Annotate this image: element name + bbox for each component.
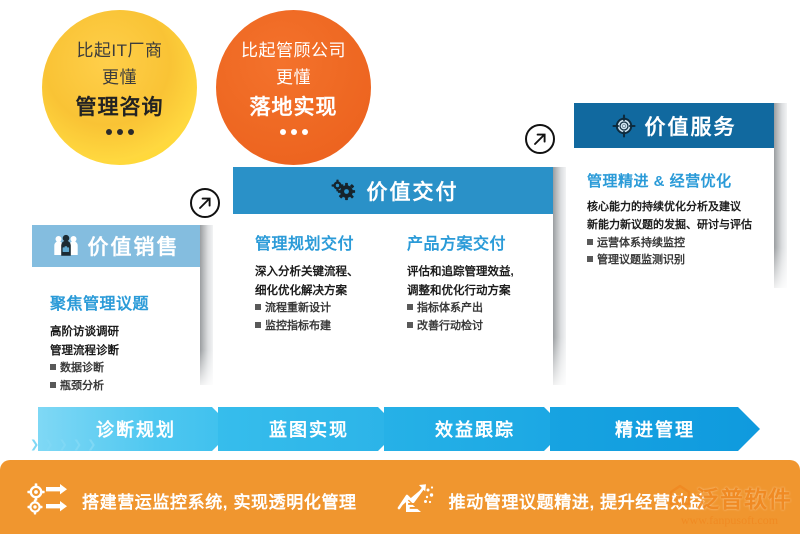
gear-icon	[328, 178, 358, 204]
panel-bullet-label: 流程重新设计	[265, 300, 331, 318]
watermark-logo-icon	[667, 484, 693, 510]
panel-bullet-label: 管理议题监测识别	[597, 252, 685, 270]
panel-bullet-label: 瓶颈分析	[60, 378, 104, 396]
panel-column: 产品方案交付 评估和追踪管理效益, 调整和优化行动方案 指标体系产出 改善行动检…	[407, 230, 537, 336]
panel-bullet-label: 监控指标布建	[265, 318, 331, 336]
panel-line: 深入分析关键流程、	[255, 263, 385, 282]
bullet-square-icon	[407, 322, 413, 328]
panel-header: 价值服务	[574, 103, 774, 148]
panel-bullet: 监控指标布建	[255, 318, 385, 336]
watermark-brand-row: 泛普软件	[667, 480, 792, 514]
panel-body: 管理精进 & 经营优化 核心能力的持续优化分析及建议 新能力新议题的发掘、研讨与…	[574, 148, 774, 270]
circle-line-2: 更懂	[276, 67, 311, 88]
panel-3d-edge	[200, 225, 213, 385]
panel-subtitle: 产品方案交付	[407, 230, 537, 254]
highlight-circle-consulting: 比起IT厂商 更懂 管理咨询	[42, 10, 197, 165]
panel-bullet: 管理议题监测识别	[587, 252, 774, 270]
panel-subtitle: 聚焦管理议题	[50, 290, 200, 314]
panel-subtitle: 管理规划交付	[255, 230, 385, 254]
bullet-square-icon	[255, 304, 261, 310]
panel-title: 价值交付	[367, 176, 459, 206]
bullet-square-icon	[50, 364, 56, 370]
panel-bullet-label: 数据诊断	[60, 360, 104, 378]
process-step-label: 诊断规划	[96, 416, 176, 442]
process-step-3[interactable]: 效益跟踪	[384, 407, 566, 451]
panel-bullet: 改善行动检讨	[407, 318, 537, 336]
ellipsis-dots	[280, 129, 308, 135]
panel-title: 价值销售	[88, 231, 180, 261]
panel-3d-edge	[553, 167, 566, 385]
panel-column: 管理规划交付 深入分析关键流程、 细化优化解决方案 流程重新设计 监控指标布建	[255, 230, 385, 336]
panel-line: 高阶访谈调研	[50, 323, 200, 342]
bullet-square-icon	[255, 322, 261, 328]
panel-value-sales: 价值销售 聚焦管理议题 高阶访谈调研 管理流程诊断 数据诊断 瓶颈分析	[32, 225, 200, 385]
process-step-label: 效益跟踪	[435, 416, 515, 442]
arrow-up-right-circle-icon	[190, 188, 220, 218]
panel-bullet-label: 指标体系产出	[417, 300, 483, 318]
watermark: 泛普软件 www.fanpusoft.com	[667, 480, 792, 528]
panel-line: 调整和优化行动方案	[407, 282, 537, 301]
watermark-brand: 泛普软件	[696, 480, 792, 514]
people-icon	[53, 234, 79, 258]
panel-value-delivery: 价值交付 管理规划交付 深入分析关键流程、 细化优化解决方案 流程重新设计 监控…	[233, 167, 553, 385]
panel-bullet: 瓶颈分析	[50, 378, 200, 396]
panel-bullet-label: 运营体系持续监控	[597, 235, 685, 253]
panel-line: 核心能力的持续优化分析及建议	[587, 199, 774, 217]
circle-line-2: 更懂	[102, 67, 137, 88]
panel-bullet: 流程重新设计	[255, 300, 385, 318]
bullet-square-icon	[407, 304, 413, 310]
target-radar-icon	[612, 114, 636, 138]
panel-3d-edge	[774, 103, 787, 288]
panel-subtitle: 管理精进 & 经营优化	[587, 170, 774, 191]
watermark-url: www.fanpusoft.com	[681, 513, 778, 528]
process-step-4[interactable]: 精进管理	[550, 407, 760, 451]
process-step-2[interactable]: 蓝图实现	[218, 407, 400, 451]
mini-chevrons: ❯ ❯ ❯ ❯ ❯	[30, 438, 97, 451]
circle-line-3: 落地实现	[250, 95, 338, 121]
panel-header: 价值交付	[233, 167, 553, 214]
circle-line-1: 比起IT厂商	[76, 40, 162, 61]
panel-line: 评估和追踪管理效益,	[407, 263, 537, 282]
panel-body: 聚焦管理议题 高阶访谈调研 管理流程诊断 数据诊断 瓶颈分析	[32, 267, 200, 396]
circle-line-3: 管理咨询	[76, 95, 164, 121]
infographic-canvas: 比起IT厂商 更懂 管理咨询 比起管顾公司 更懂 落地实现	[0, 0, 800, 534]
summary-item-label: 搭建营运监控系统, 实现透明化管理	[82, 488, 357, 513]
summary-item-monitoring: 搭建营运监控系统, 实现透明化管理	[26, 482, 357, 518]
panel-bullet: 指标体系产出	[407, 300, 537, 318]
bullet-square-icon	[587, 256, 593, 262]
panel-line: 细化优化解决方案	[255, 282, 385, 301]
bullet-square-icon	[50, 382, 56, 388]
process-step-label: 精进管理	[615, 416, 695, 442]
panel-header: 价值销售	[32, 225, 200, 267]
summary-item-improvement: 推动管理议题精进, 提升经营效益	[397, 482, 706, 518]
gears-arrows-icon	[26, 482, 72, 518]
panel-bullet-label: 改善行动检讨	[417, 318, 483, 336]
bullet-square-icon	[587, 239, 593, 245]
panel-line: 新能力新议题的发掘、研讨与评估	[587, 217, 774, 235]
growth-chart-icon	[397, 482, 439, 518]
arrow-up-right-circle-icon	[525, 124, 555, 154]
circle-line-1: 比起管顾公司	[241, 40, 346, 61]
panel-bullet: 运营体系持续监控	[587, 235, 774, 253]
panel-bullet: 数据诊断	[50, 360, 200, 378]
highlight-circle-implementation: 比起管顾公司 更懂 落地实现	[216, 10, 371, 165]
panel-body: 管理规划交付 深入分析关键流程、 细化优化解决方案 流程重新设计 监控指标布建 …	[233, 214, 553, 336]
panel-line: 管理流程诊断	[50, 342, 200, 361]
process-step-label: 蓝图实现	[269, 416, 349, 442]
panel-value-service: 价值服务 管理精进 & 经营优化 核心能力的持续优化分析及建议 新能力新议题的发…	[574, 103, 774, 288]
ellipsis-dots	[106, 129, 134, 135]
process-arrow-bar: 诊断规划 蓝图实现 效益跟踪 精进管理	[0, 407, 800, 451]
panel-title: 价值服务	[645, 111, 737, 141]
